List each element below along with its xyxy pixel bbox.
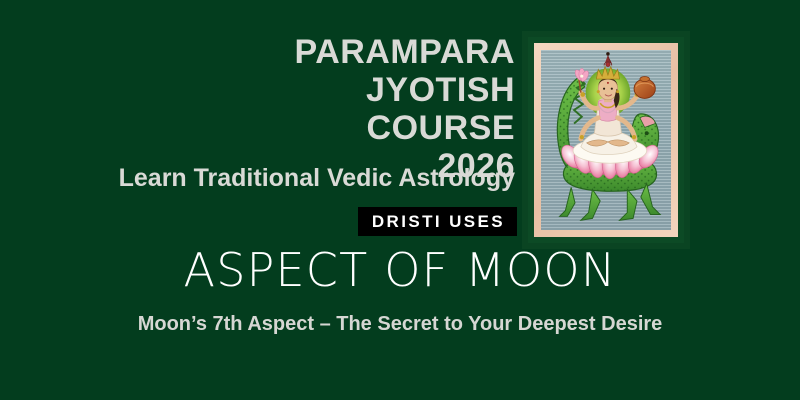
goddess-ganga-on-makara-icon (541, 50, 671, 230)
painting-mat-border (534, 43, 678, 237)
badge-row: DRISTI USES (0, 207, 517, 236)
dristi-uses-badge: DRISTI USES (358, 207, 517, 236)
course-heading-line-1: PARAMPARA (0, 33, 515, 71)
subtitle: Moon’s 7th Aspect – The Secret to Your D… (0, 312, 800, 337)
goddess-painting-frame (522, 31, 690, 249)
main-title: ASPECT OF MOON (0, 244, 800, 296)
crown (596, 52, 619, 79)
course-heading-line-2: JYOTISH (0, 71, 515, 109)
course-heading-line-3: COURSE (0, 109, 515, 147)
painting-canvas (541, 50, 671, 230)
promotional-banner: PARAMPARA JYOTISH COURSE 2026 Learn Trad… (0, 0, 800, 400)
water-pot (634, 77, 655, 99)
course-tagline: Learn Traditional Vedic Astrology (0, 164, 515, 193)
course-heading: PARAMPARA JYOTISH COURSE 2026 (0, 33, 515, 185)
